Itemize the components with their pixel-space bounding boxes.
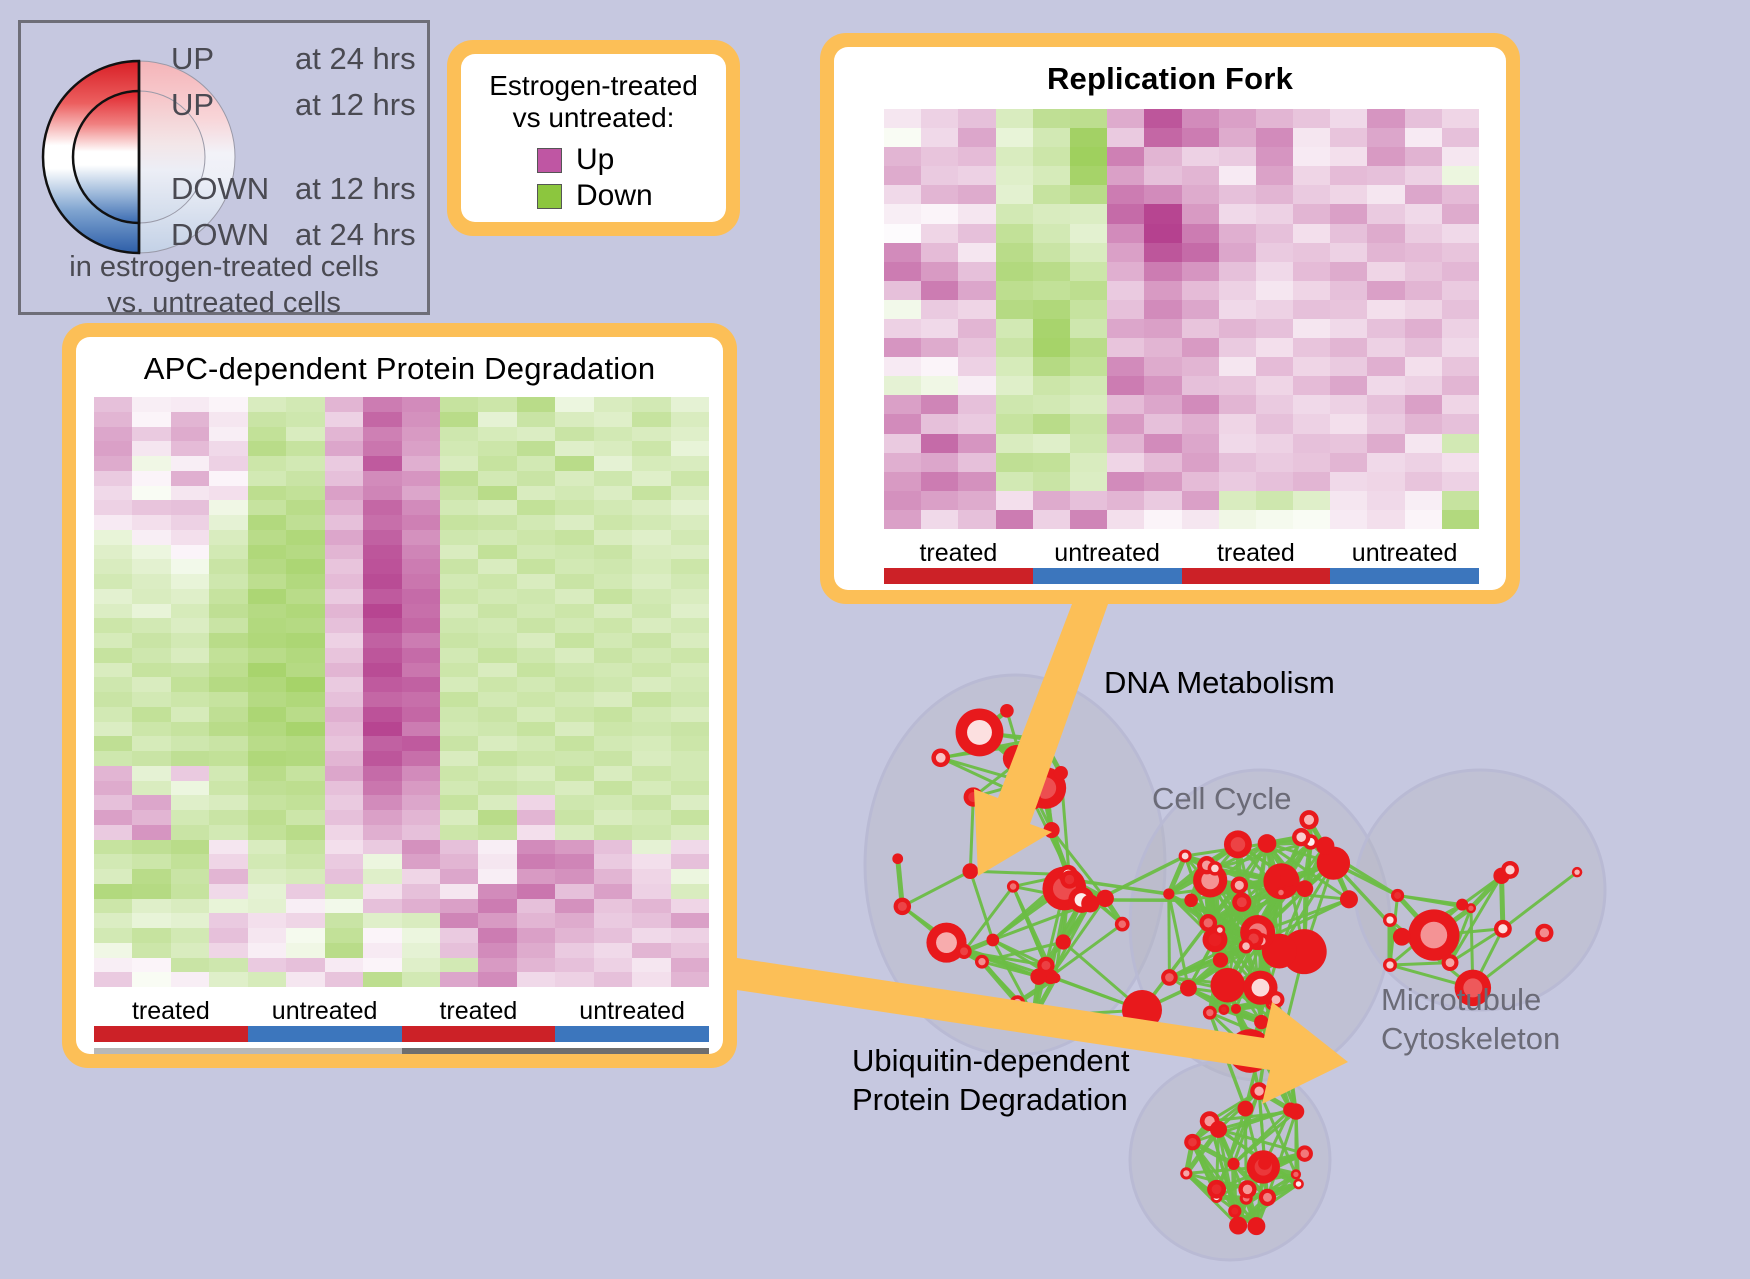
network-node-core	[1272, 995, 1281, 1004]
network-node-core	[1188, 1138, 1197, 1147]
network-node-core	[1231, 837, 1246, 852]
network-node	[1213, 952, 1228, 967]
network-node	[1000, 704, 1014, 718]
group-label: untreated	[1033, 539, 1182, 568]
network-node	[1003, 745, 1030, 772]
network-node	[1227, 1158, 1239, 1170]
network-node-core	[1242, 942, 1250, 950]
network-node	[1250, 1082, 1268, 1100]
network-node	[975, 955, 989, 969]
network-node	[1293, 1179, 1304, 1190]
treatment-color-bar	[884, 568, 1479, 584]
network-node-core	[1296, 1181, 1302, 1187]
network-node-core	[1498, 924, 1507, 933]
group-labels: treated untreated treated untreated	[884, 539, 1479, 568]
network-node-core	[1278, 890, 1283, 895]
legend-title-line1: Estrogen-treated	[461, 70, 726, 102]
network-node	[1268, 991, 1285, 1008]
network-node	[1054, 766, 1068, 780]
color-key-labels: UP at 24 hrs UP at 12 hrs DOWN at 12 hrs…	[171, 41, 426, 263]
network-node	[1466, 903, 1476, 913]
network-node	[1208, 861, 1223, 876]
network-node	[1391, 889, 1404, 902]
network-node-core	[1505, 865, 1514, 874]
network-node-core	[1296, 832, 1306, 842]
treatment-color-bar	[94, 1026, 709, 1042]
apc-axis: treated untreated treated untreated 12 h…	[94, 997, 709, 1054]
legend-title-line2: vs untreated:	[461, 102, 726, 134]
network-node-core	[1212, 1184, 1222, 1194]
pathway-network-graph	[790, 620, 1750, 1279]
network-node-core	[1275, 1039, 1281, 1045]
network-node	[1184, 893, 1198, 907]
network-node	[1229, 1216, 1247, 1234]
cluster-label-line1: Ubiquitin-dependent	[852, 1042, 1130, 1081]
group-label: untreated	[248, 997, 402, 1026]
network-node	[1280, 869, 1297, 886]
color-key-row: UP at 24 hrs	[171, 41, 426, 87]
network-node-core	[1386, 961, 1393, 968]
color-key-footer-line2: vs. untreated cells	[21, 285, 427, 321]
network-node	[1254, 1015, 1268, 1029]
network-node	[1228, 1029, 1272, 1073]
network-node-core	[1304, 815, 1314, 825]
network-node-core	[1030, 1013, 1038, 1021]
color-key-when: at 24 hrs	[295, 217, 416, 253]
color-key-when: at 12 hrs	[295, 171, 416, 207]
color-key-footer-line1: in estrogen-treated cells	[21, 249, 427, 285]
legend-label-down: Down	[576, 179, 653, 213]
apc-heatmap	[94, 397, 709, 987]
network-node	[892, 853, 903, 864]
network-node	[1036, 734, 1052, 750]
network-node	[1276, 887, 1287, 898]
network-node-core	[1010, 883, 1016, 889]
network-node	[1184, 1134, 1201, 1151]
network-node	[1340, 890, 1358, 908]
network-node	[1224, 830, 1252, 858]
network-node	[1179, 849, 1192, 862]
network-node	[931, 748, 950, 767]
cluster-label-line1: Microtubule	[1381, 981, 1560, 1020]
network-node	[1207, 1180, 1226, 1199]
network-node-core	[898, 902, 907, 911]
network-node	[1501, 861, 1519, 879]
network-node-core	[1231, 1208, 1238, 1215]
network-node	[1237, 1101, 1253, 1117]
legend-item-down: Down	[537, 178, 726, 214]
network-node-core	[1243, 1185, 1252, 1194]
network-node	[1097, 890, 1114, 907]
network-node	[1247, 1217, 1265, 1235]
cluster-label-dna-metabolism: DNA Metabolism	[1104, 665, 1335, 701]
network-node	[1292, 828, 1310, 846]
network-node	[964, 787, 983, 806]
cluster-label-line2: Cytoskeleton	[1381, 1020, 1560, 1059]
color-key-label: UP	[171, 41, 295, 77]
cluster-label-microtubule-cytoskeleton: Microtubule Cytoskeleton	[1381, 981, 1560, 1059]
network-node	[1383, 913, 1397, 927]
network-node	[1535, 924, 1553, 942]
network-node	[1210, 968, 1245, 1003]
replication-fork-panel: Replication Fork treated untreated treat…	[820, 33, 1520, 604]
network-node	[1258, 1157, 1271, 1170]
network-node-core	[1293, 1172, 1298, 1177]
network-node-core	[1446, 958, 1455, 967]
network-node	[1296, 880, 1313, 897]
network-node-core	[1420, 922, 1447, 949]
network-node	[1056, 934, 1071, 949]
network-node	[1283, 1103, 1297, 1117]
network-node-core	[1254, 1086, 1263, 1095]
network-node-core	[1386, 916, 1393, 923]
network-node	[1297, 1145, 1313, 1161]
network-node-core	[1574, 869, 1579, 874]
group-label: treated	[402, 997, 556, 1026]
network-node	[1291, 1169, 1301, 1179]
network-node	[956, 708, 1004, 756]
group-labels: treated untreated treated untreated	[94, 997, 709, 1026]
group-label: untreated	[555, 997, 709, 1026]
cluster-label-line2: Protein Degradation	[852, 1081, 1130, 1120]
network-node	[956, 944, 971, 959]
legend-title: Estrogen-treated vs untreated:	[461, 70, 726, 134]
network-node	[1231, 1004, 1241, 1014]
network-node	[1572, 867, 1582, 877]
network-node-core	[1029, 797, 1038, 806]
network-node	[1299, 810, 1318, 829]
color-key-when: at 24 hrs	[295, 41, 416, 77]
network-node	[1232, 893, 1251, 912]
network-node	[1228, 1204, 1241, 1217]
network-node	[1219, 1004, 1230, 1015]
group-label: treated	[94, 997, 248, 1026]
network-node-core	[1211, 865, 1219, 873]
network-node-core	[1235, 881, 1244, 890]
network-node	[1122, 990, 1162, 1030]
timepoint-color-bar	[94, 1048, 709, 1054]
color-key-box: UP at 24 hrs UP at 12 hrs DOWN at 12 hrs…	[18, 20, 430, 315]
group-label: treated	[884, 539, 1033, 568]
legend-swatch-down	[537, 184, 562, 209]
color-key-footer: in estrogen-treated cells vs. untreated …	[21, 249, 427, 322]
network-node	[1060, 870, 1078, 888]
network-node-core	[967, 720, 992, 745]
network-node	[1383, 958, 1397, 972]
network-node	[1025, 793, 1042, 810]
network-node-core	[1204, 918, 1213, 927]
color-key-row: DOWN at 12 hrs	[171, 171, 426, 217]
network-node-core	[936, 932, 957, 953]
network-node-core	[1252, 979, 1270, 997]
network-node-core	[1041, 961, 1050, 970]
cluster-label-cell-cycle: Cell Cycle	[1152, 781, 1292, 817]
replication-fork-axis: treated untreated treated untreated 12 h…	[884, 539, 1479, 590]
network-node	[1239, 939, 1254, 954]
color-key-label: DOWN	[171, 171, 295, 207]
network-node	[1022, 732, 1035, 745]
color-key-when: at 12 hrs	[295, 87, 416, 123]
replication-fork-heatmap	[884, 109, 1479, 529]
network-node	[1007, 880, 1019, 892]
network-node	[1044, 822, 1060, 838]
network-node-core	[1237, 897, 1247, 907]
network-node-core	[1206, 1009, 1213, 1016]
cluster-label-ubiquitin-degradation: Ubiquitin-dependent Protein Degradation	[852, 1042, 1130, 1120]
network-node	[1027, 1009, 1042, 1024]
network-node	[1210, 1121, 1227, 1138]
network-node	[986, 934, 999, 947]
network-node	[1081, 894, 1099, 912]
group-label: untreated	[1330, 539, 1479, 568]
network-node	[1238, 1180, 1256, 1198]
network-node	[1180, 1167, 1192, 1179]
network-node-core	[1221, 1007, 1227, 1013]
apc-panel-title: APC-dependent Protein Degradation	[76, 337, 723, 387]
network-node	[1442, 954, 1459, 971]
network-node	[1161, 969, 1178, 986]
network-node	[1231, 876, 1249, 894]
network-node-core	[1182, 853, 1189, 860]
network-node-core	[1183, 1170, 1189, 1176]
network-node	[1494, 920, 1512, 938]
network-node	[1163, 888, 1174, 899]
color-key-row: UP at 12 hrs	[171, 87, 426, 133]
legend-items: Up Down	[461, 142, 726, 214]
color-key-label: UP	[171, 87, 295, 123]
legend-swatch-up	[537, 148, 562, 173]
network-node	[1393, 928, 1411, 946]
network-node	[1214, 925, 1225, 936]
network-node-core	[1065, 875, 1074, 884]
network-node	[1258, 834, 1277, 853]
network-node-core	[1118, 920, 1126, 928]
network-node	[1115, 917, 1130, 932]
network-node-core	[1468, 906, 1473, 911]
network-node	[962, 863, 978, 879]
network-node	[894, 898, 912, 916]
network-edge	[1169, 894, 1170, 977]
network-node-core	[936, 753, 946, 763]
replication-fork-title: Replication Fork	[834, 47, 1506, 97]
legend-label-up: Up	[576, 143, 614, 177]
network-node-core	[978, 958, 985, 965]
legend-item-up: Up	[537, 142, 726, 178]
network-node-core	[968, 792, 978, 802]
network-node	[1259, 1189, 1276, 1206]
network-node	[1408, 909, 1459, 960]
network-node	[1203, 1006, 1217, 1020]
apc-degradation-panel: APC-dependent Protein Degradation treate…	[62, 323, 737, 1068]
network-node-core	[1394, 892, 1401, 899]
network-node-core	[960, 947, 968, 955]
network-node-core	[1165, 973, 1174, 982]
network-node	[1010, 995, 1025, 1010]
network-node-core	[1013, 999, 1021, 1007]
network-node	[1316, 837, 1334, 855]
color-key-spacer	[171, 133, 426, 171]
network-node-core	[1263, 1193, 1272, 1202]
network-node-core	[1540, 928, 1549, 937]
network-node	[1279, 1023, 1291, 1035]
network-node-core	[1217, 927, 1223, 933]
network-node-core	[1300, 1149, 1309, 1158]
color-key-label: DOWN	[171, 217, 295, 253]
group-label: treated	[1182, 539, 1331, 568]
network-node	[1030, 968, 1046, 984]
network-node	[1273, 1036, 1284, 1047]
heatmap-legend-panel: Estrogen-treated vs untreated: Up Down	[447, 40, 740, 236]
network-node	[1180, 980, 1197, 997]
